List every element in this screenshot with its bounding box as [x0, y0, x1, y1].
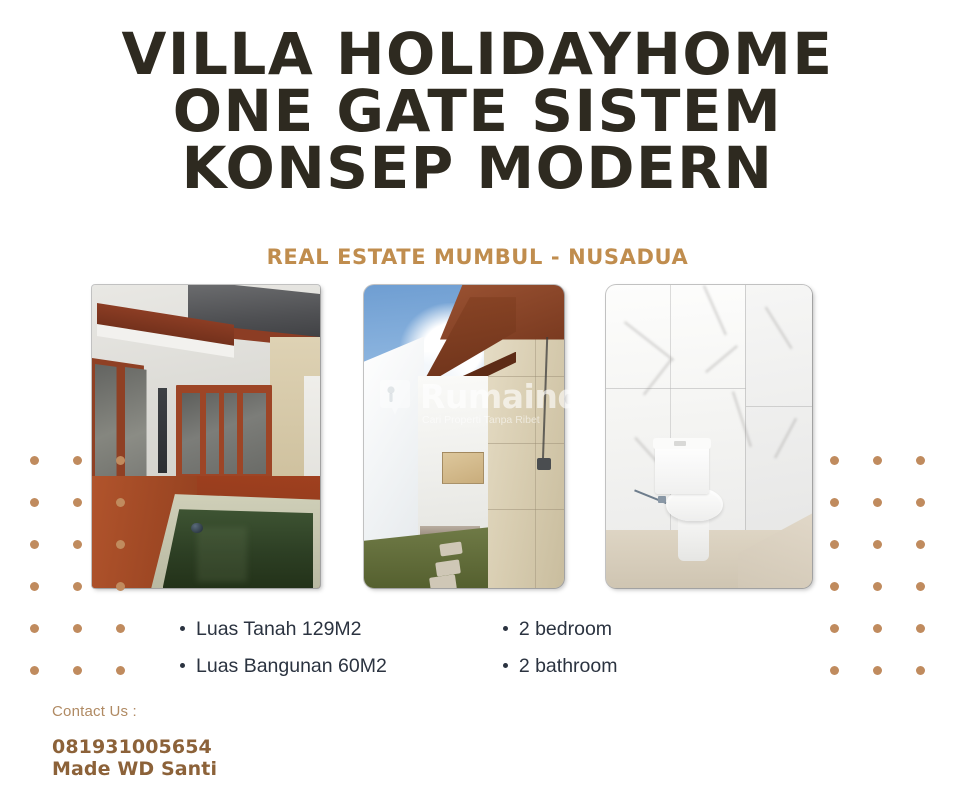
stone-joint [484, 509, 564, 510]
decorative-dot [916, 666, 925, 675]
marble-tile-wall-right [746, 285, 812, 533]
decorative-dot-grid-left [30, 456, 140, 680]
decorative-dot [873, 540, 882, 549]
decorative-dot-grid-right [830, 456, 940, 680]
subtitle-location: REAL ESTATE MUMBUL - NUSADUA [0, 245, 955, 269]
decorative-dot [873, 456, 882, 465]
exterior-scene [364, 285, 564, 588]
toilet-base [678, 518, 709, 560]
photo-bathroom-toilet[interactable] [606, 285, 812, 588]
feature-label: 2 bathroom [519, 655, 618, 678]
contact-phone[interactable]: 081931005654 [52, 736, 217, 758]
feature-item: 2 bedroom [503, 618, 618, 641]
decorative-dot [116, 498, 125, 507]
decorative-dot [873, 582, 882, 591]
decorative-dot [30, 624, 39, 633]
decorative-dot [30, 582, 39, 591]
decorative-dot [873, 666, 882, 675]
decorative-dot [30, 540, 39, 549]
bullet-icon [503, 663, 508, 668]
contact-details: 081931005654 Made WD Santi [52, 736, 217, 780]
water-reflection [197, 527, 247, 582]
door-mullion [237, 393, 243, 475]
decorative-dot [916, 624, 925, 633]
decorative-dot [873, 498, 882, 507]
flush-button [674, 441, 686, 446]
toilet-bowl [668, 491, 722, 521]
decorative-dot [116, 582, 125, 591]
decorative-dot [73, 540, 82, 549]
bullet-icon [180, 663, 185, 668]
tile-grout-line [606, 388, 746, 389]
bullet-icon [180, 626, 185, 631]
stone-joint [484, 443, 564, 444]
stepping-stone [439, 541, 462, 556]
decorative-dot [916, 456, 925, 465]
dark-doorway [158, 388, 167, 473]
door-mullion [200, 393, 206, 475]
decorative-dot [73, 582, 82, 591]
decorative-dot [73, 456, 82, 465]
decorative-dot [30, 456, 39, 465]
wall-corner [745, 285, 746, 533]
headline-line-2: ONE GATE SISTEM [0, 83, 955, 140]
decorative-dot [73, 624, 82, 633]
decorative-dot [830, 666, 839, 675]
feature-item: 2 bathroom [503, 655, 618, 678]
feature-item: Luas Bangunan 60M2 [180, 655, 387, 678]
decorative-dot [916, 540, 925, 549]
decorative-dot [830, 456, 839, 465]
headline-line-1: VILLA HOLIDAYHOME [0, 26, 955, 83]
decorative-dot [830, 582, 839, 591]
water-valve [658, 496, 666, 503]
feature-label: Luas Tanah 129M2 [196, 618, 362, 641]
decorative-dot [116, 540, 125, 549]
page-title: VILLA HOLIDAYHOME ONE GATE SISTEM KONSEP… [0, 26, 955, 196]
stone-joint [484, 376, 564, 377]
pool-object [191, 523, 202, 534]
decorative-dot [873, 624, 882, 633]
stone-accent-panel [442, 452, 484, 484]
decorative-dot [916, 498, 925, 507]
contact-label: Contact Us : [52, 703, 217, 720]
contact-agent-name: Made WD Santi [52, 758, 217, 780]
stone-joint [535, 321, 536, 588]
photo-villa-exterior-side-passage[interactable] [364, 285, 564, 588]
bullet-icon [503, 626, 508, 631]
wall-fitting [537, 458, 551, 470]
decorative-dot [30, 498, 39, 507]
decorative-dot [116, 666, 125, 675]
decorative-dot [116, 456, 125, 465]
feature-label: Luas Bangunan 60M2 [196, 655, 387, 678]
door-mullion [219, 393, 225, 475]
decorative-dot [830, 540, 839, 549]
decorative-dot [116, 624, 125, 633]
feature-label: 2 bedroom [519, 618, 612, 641]
feature-column-right: 2 bedroom 2 bathroom [503, 618, 618, 678]
decorative-dot [830, 498, 839, 507]
headline-line-3: KONSEP MODERN [0, 140, 955, 197]
decorative-dot [73, 498, 82, 507]
decorative-dot [30, 666, 39, 675]
feature-item: Luas Tanah 129M2 [180, 618, 387, 641]
contact-section: Contact Us : 081931005654 Made WD Santi [52, 703, 217, 780]
decorative-dot [73, 666, 82, 675]
stepping-stone [429, 574, 457, 588]
property-features: Luas Tanah 129M2 Luas Bangunan 60M2 2 be… [180, 618, 700, 678]
decorative-dot [916, 582, 925, 591]
tile-grout-line [746, 406, 812, 407]
feature-column-left: Luas Tanah 129M2 Luas Bangunan 60M2 [180, 618, 387, 678]
bathroom-scene [606, 285, 812, 588]
decorative-dot [830, 624, 839, 633]
toilet-cistern [655, 443, 709, 495]
